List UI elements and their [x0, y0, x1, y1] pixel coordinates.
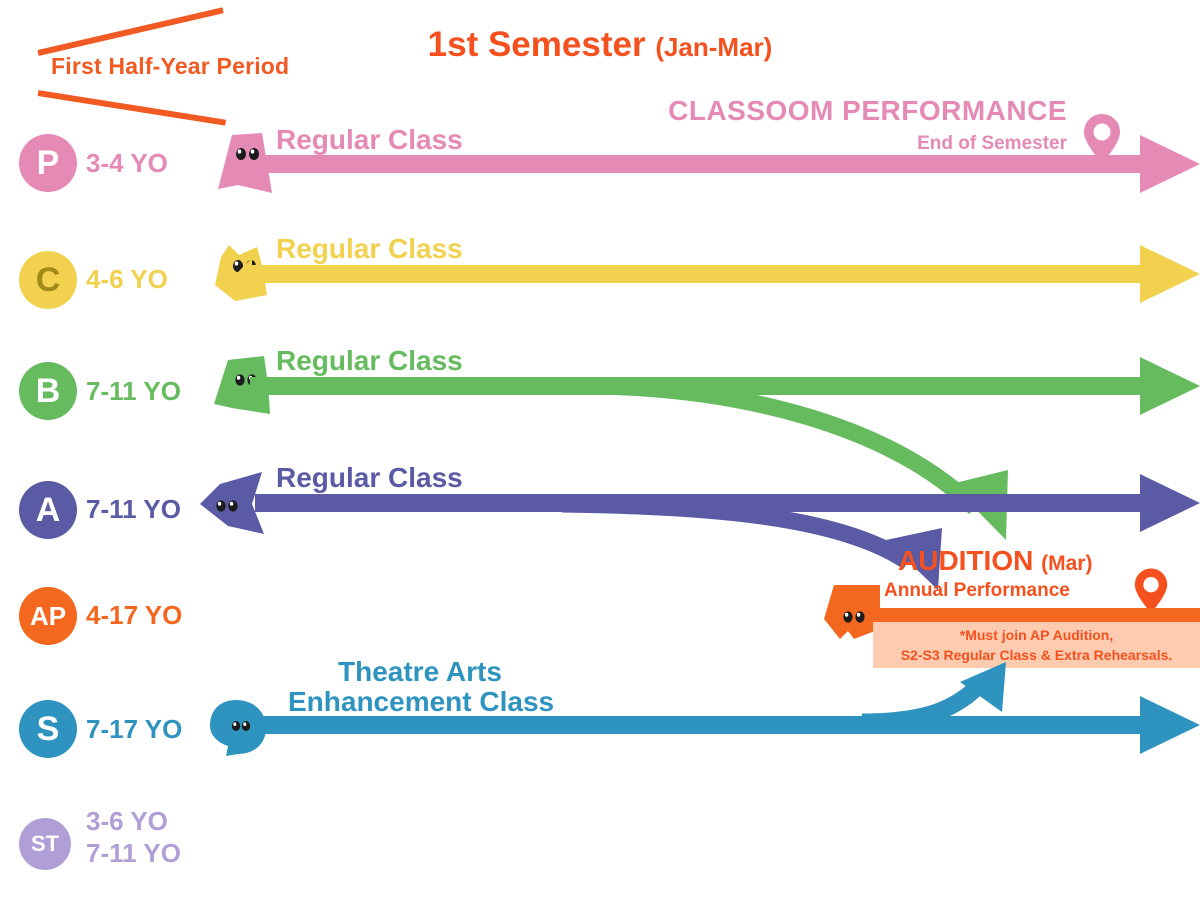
row-badge-p[interactable]: P: [19, 134, 77, 192]
row-badge-c-letter: C: [36, 263, 61, 297]
audition-title: AUDITION (Mar): [898, 545, 1092, 577]
row-badge-st-letter: ST: [31, 833, 59, 855]
row-badge-ap[interactable]: AP: [19, 587, 77, 645]
row-arrowhead-a: [1140, 474, 1200, 532]
row-badge-c[interactable]: C: [19, 251, 77, 309]
row-age-c: 4-6 YO: [86, 264, 168, 295]
audition-subtitle: Annual Performance: [884, 580, 1070, 602]
row-label-a: Regular Class: [276, 462, 463, 494]
row-arrowtail-c: [232, 258, 252, 294]
semester-title-months: (Jan-Mar): [655, 32, 772, 62]
row-badge-s[interactable]: S: [19, 700, 77, 758]
period-line-bottom: [38, 90, 227, 126]
row-badge-p-letter: P: [37, 146, 60, 180]
row-arrowhead-b: [1140, 357, 1200, 415]
row-age-st-line-2: 7-11 YO: [86, 838, 181, 870]
row-arrowhead-s: [1140, 696, 1200, 754]
curved-arrow-s-to-ap: [860, 660, 1050, 730]
row-arrowhead-c: [1140, 245, 1200, 303]
semester-title-main: 1st Semester: [428, 25, 646, 64]
timeline-infographic: First Half-Year Period 1st Semester (Jan…: [0, 0, 1200, 900]
row-label-s-line-2: Enhancement Class: [288, 686, 554, 718]
row-arrowhead-p: [1140, 135, 1200, 193]
classroom-performance-title: CLASSOOM PERFORMANCE: [668, 95, 1067, 127]
row-age-st-line-1: 3-6 YO: [86, 806, 181, 838]
row-badge-s-letter: S: [37, 712, 60, 746]
row-age-st: 3-6 YO 7-11 YO: [86, 806, 181, 869]
classroom-performance-subtitle: End of Semester: [917, 133, 1067, 155]
row-badge-st[interactable]: ST: [19, 818, 71, 870]
row-badge-a[interactable]: A: [19, 481, 77, 539]
row-label-b: Regular Class: [276, 345, 463, 377]
row-badge-b-letter: B: [36, 374, 61, 408]
row-bar-c: [248, 265, 1144, 283]
row-badge-b[interactable]: B: [19, 362, 77, 420]
row-badge-a-letter: A: [36, 493, 61, 527]
audition-title-main: AUDITION: [898, 545, 1033, 576]
row-label-s-line-1: Theatre Arts: [338, 656, 502, 688]
audition-note-line-1: *Must join AP Audition,: [960, 625, 1113, 645]
row-label-c: Regular Class: [276, 233, 463, 265]
row-age-p: 3-4 YO: [86, 148, 168, 179]
page-title: 1st Semester (Jan-Mar): [0, 25, 1200, 65]
row-age-s: 7-17 YO: [86, 714, 182, 745]
row-label-p: Regular Class: [276, 124, 463, 156]
row-age-a: 7-11 YO: [86, 494, 181, 525]
row-badge-ap-letter: AP: [30, 603, 66, 629]
audition-title-month: (Mar): [1041, 552, 1092, 575]
row-bar-p: [262, 155, 1144, 173]
row-age-b: 7-11 YO: [86, 376, 181, 407]
row-age-ap: 4-17 YO: [86, 600, 182, 631]
